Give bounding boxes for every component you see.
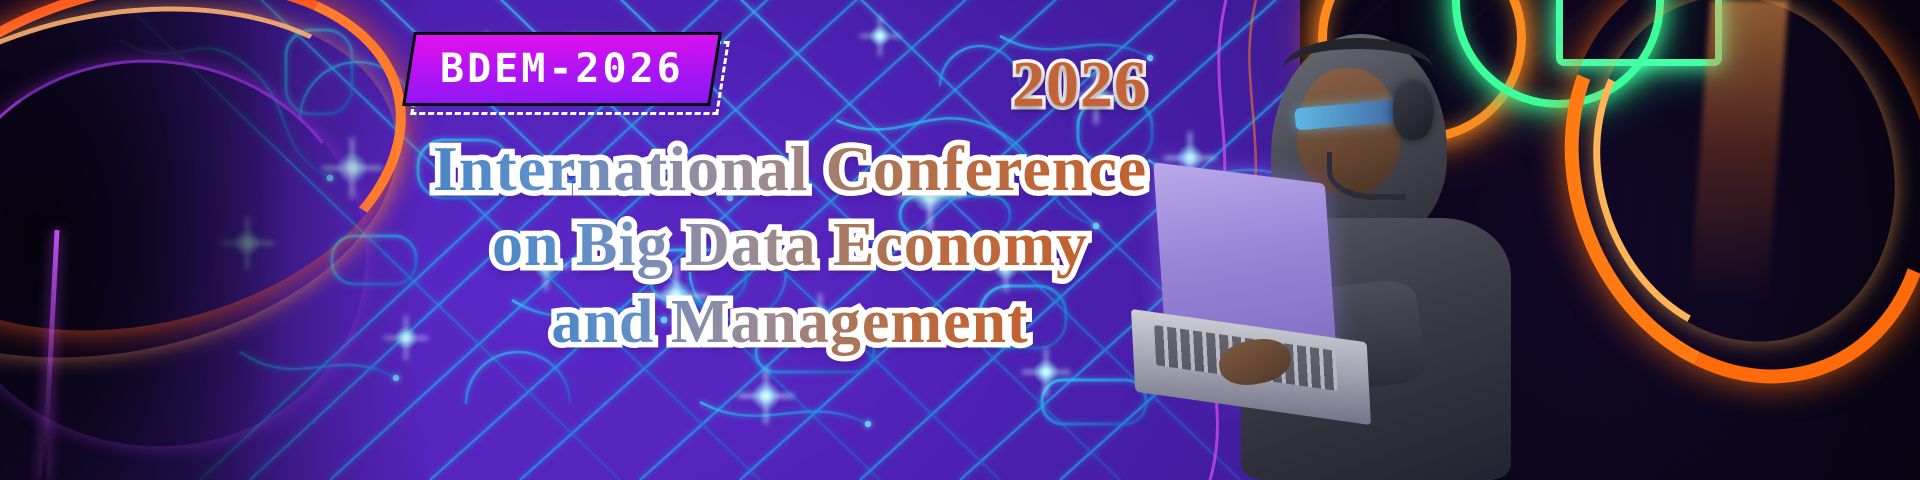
title-line-3: and Management and Management [330, 284, 1250, 361]
badge-plate: BDEM-2026 [402, 32, 722, 106]
person-with-laptop-photo [1235, 20, 1565, 480]
year-label: 2026 [1012, 52, 1148, 118]
title-line-3-fill: and Management [551, 288, 1028, 356]
title-line-2: on Big Data Economy on Big Data Economy [330, 207, 1250, 284]
conference-acronym-badge: BDEM-2026 [408, 32, 724, 114]
title-line-1: International Conference International C… [330, 130, 1250, 207]
headphones-earcup-icon [1393, 82, 1433, 140]
title-line-1-fill: International Conference [433, 133, 1147, 204]
title-line-2-fill: on Big Data Economy [492, 211, 1088, 279]
badge-label: BDEM-2026 [440, 49, 684, 89]
conference-title: International Conference International C… [330, 130, 1250, 361]
conference-banner: BDEM-2026 2026 International Conference … [0, 0, 1920, 480]
